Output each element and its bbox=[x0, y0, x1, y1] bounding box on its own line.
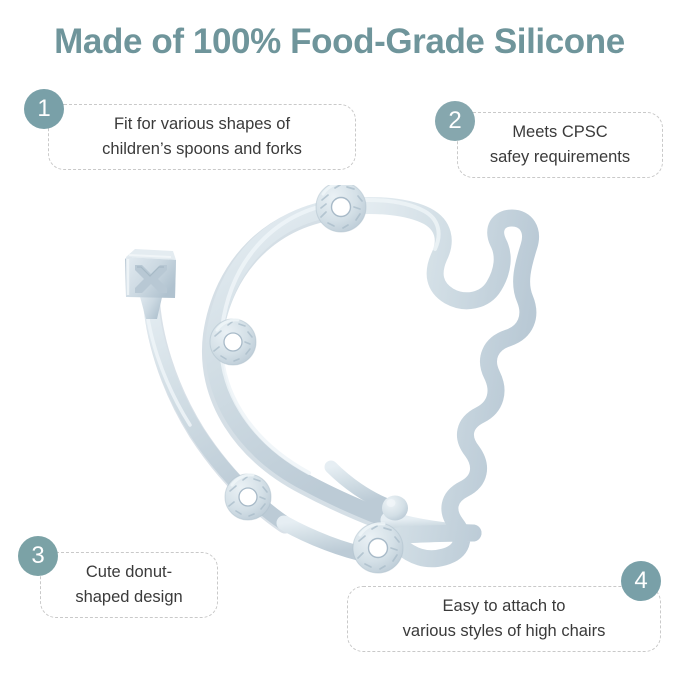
feature-3-text: Cute donut- shaped design bbox=[65, 560, 192, 610]
donut-bead bbox=[353, 523, 403, 573]
utensil-holder-cube bbox=[125, 249, 176, 319]
donut-bead bbox=[210, 319, 256, 365]
donut-bead bbox=[316, 185, 366, 232]
feature-badge-2: 2 bbox=[435, 101, 475, 141]
feature-callout-2: Meets CPSC safey requirements bbox=[457, 112, 663, 178]
product-image bbox=[95, 185, 595, 585]
feature-callout-1: Fit for various shapes of children’s spo… bbox=[48, 104, 356, 170]
feature-badge-4: 4 bbox=[621, 561, 661, 601]
donut-bead bbox=[225, 474, 271, 520]
ball-terminal bbox=[382, 496, 408, 521]
feature-4-text: Easy to attach to various styles of high… bbox=[393, 594, 616, 644]
feature-badge-2-number: 2 bbox=[448, 107, 461, 135]
feature-badge-1: 1 bbox=[24, 89, 64, 129]
product-infographic: Made of 100% Food-Grade Silicone bbox=[0, 0, 679, 679]
page-title: Made of 100% Food-Grade Silicone bbox=[0, 22, 679, 62]
feature-2-text: Meets CPSC safey requirements bbox=[480, 120, 640, 170]
feature-callout-3: Cute donut- shaped design bbox=[40, 552, 218, 618]
feature-badge-3: 3 bbox=[18, 536, 58, 576]
feature-1-text: Fit for various shapes of children’s spo… bbox=[92, 112, 312, 162]
feature-callout-4: Easy to attach to various styles of high… bbox=[347, 586, 661, 652]
feature-badge-1-number: 1 bbox=[37, 95, 50, 123]
feature-badge-3-number: 3 bbox=[31, 542, 44, 570]
feature-badge-4-number: 4 bbox=[634, 567, 647, 595]
